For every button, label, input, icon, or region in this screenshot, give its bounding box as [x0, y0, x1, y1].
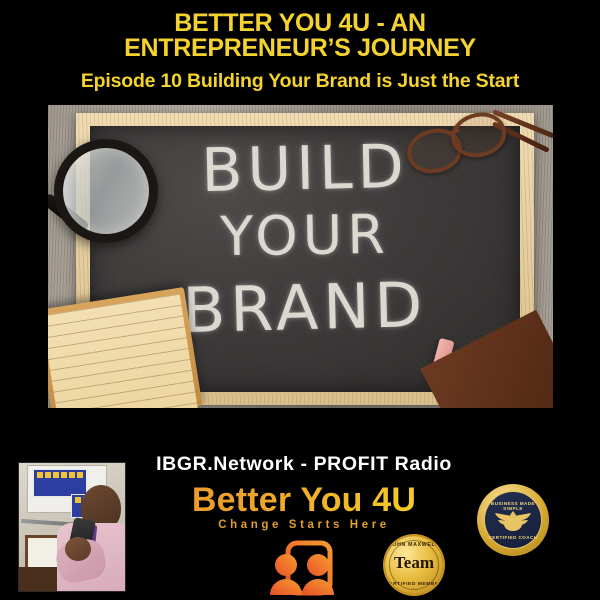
show-brand-name: Better You 4U [124, 481, 484, 519]
chalkboard-artwork: BUILD YOUR BRAND [48, 105, 553, 408]
john-maxwell-team-badge: JOHN MAXWELL Team CERTIFIED MEMBER [385, 536, 443, 594]
jm-top-text: JOHN MAXWELL [385, 542, 443, 548]
lined-notepad [48, 287, 202, 408]
studio-poster-large [33, 469, 87, 497]
jm-bottom-text: CERTIFIED MEMBER [385, 582, 443, 587]
magnifying-glass-icon [54, 139, 158, 243]
jm-center-text: Team [385, 553, 443, 572]
poster-header: BETTER YOU 4U - AN ENTREPRENEUR’S JOURNE… [0, 0, 600, 92]
eagle-emblem-icon [493, 507, 533, 533]
bms-bottom-text: CERTIFIED COACH [485, 535, 541, 540]
business-made-simple-badge: BUSINESS MADE SIMPLE CERTIFIED COACH [477, 484, 549, 556]
network-line: IBGR.Network - PROFIT Radio [124, 453, 484, 476]
show-title: BETTER YOU 4U - AN ENTREPRENEUR’S JOURNE… [0, 0, 600, 61]
people-icon [266, 539, 334, 597]
brand-tagline: Change Starts Here [124, 519, 484, 531]
eyeglasses-icon [401, 107, 551, 193]
host-pointing-hand [65, 537, 91, 561]
host-photo [18, 462, 126, 592]
notepad-lined-paper [48, 294, 198, 408]
magnifier-lens [54, 139, 158, 243]
poster-title-strip [37, 472, 83, 478]
podcast-episode-poster: BETTER YOU 4U - AN ENTREPRENEUR’S JOURNE… [0, 0, 600, 600]
episode-title: Episode 10 Building Your Brand is Just t… [0, 61, 600, 92]
badge-core: BUSINESS MADE SIMPLE CERTIFIED COACH [484, 491, 542, 549]
